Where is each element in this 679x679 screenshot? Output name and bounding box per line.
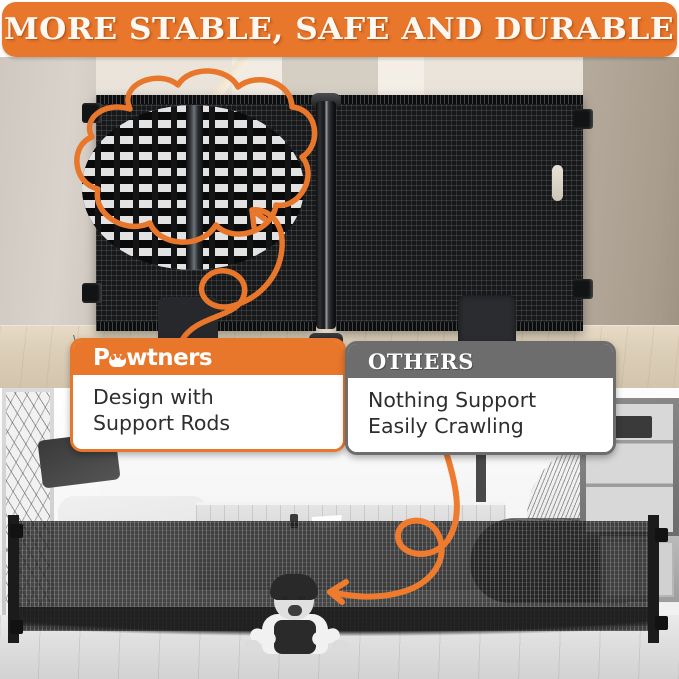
card-header-others: OTHERS [348,344,613,378]
ours-line-2: Support Rods [93,410,327,436]
gate-bracket [10,524,23,538]
center-post [314,87,338,345]
paw-print-icon [109,350,126,367]
crawling-baby [250,578,348,658]
gate-bracket [655,616,668,630]
others-line-1: Nothing Support [368,387,597,413]
post-body [316,101,336,329]
gate-top-band [336,95,583,104]
baby-mouth [288,605,302,616]
baby-overalls [274,620,316,654]
card-header-ours: Pwtners [73,341,343,375]
banner-title: MORE STABLE, SAFE AND DURABLE [4,12,674,47]
card-frame: Pwtners Design with Support Rods [70,338,346,452]
wall-bracket [82,103,102,123]
gate-bracket [10,620,23,634]
others-line-2: Easily Crawling [368,413,597,439]
pawtners-logo: Pwtners [93,345,212,371]
baby-hand-left [244,640,260,652]
logo-text-rest: wtners [126,345,212,371]
infographic-page: MORE STABLE, SAFE AND DURABLE Pwtners De… [0,0,679,679]
baby-eye-right [298,596,305,600]
gate-panel-right [336,95,583,331]
ours-line-1: Design with [93,384,327,410]
gate-handle [552,165,563,201]
header-banner: MORE STABLE, SAFE AND DURABLE [2,2,677,57]
baby-hand-right [332,640,348,652]
comparison-card-ours[interactable]: Pwtners Design with Support Rods [70,338,346,452]
card-body-others: Nothing Support Easily Crawling [348,378,613,452]
comparison-card-others[interactable]: OTHERS Nothing Support Easily Crawling [345,341,616,455]
mesh-texture [96,95,316,331]
gate-reinforce-patch-right [458,295,516,347]
baby-hair [270,574,318,600]
others-title: OTHERS [368,349,474,374]
mesh-texture [336,95,583,331]
gate-bracket [655,528,668,542]
gate-top-band [96,95,316,104]
card-frame: OTHERS Nothing Support Easily Crawling [345,341,616,455]
wall-bracket [573,279,593,299]
wall-bracket [573,109,593,129]
logo-text-p: P [93,345,109,371]
wall-bracket [82,283,102,303]
card-body-ours: Design with Support Rods [73,375,343,449]
baby-eye-left [281,596,288,600]
gate-panel-left [96,95,316,331]
